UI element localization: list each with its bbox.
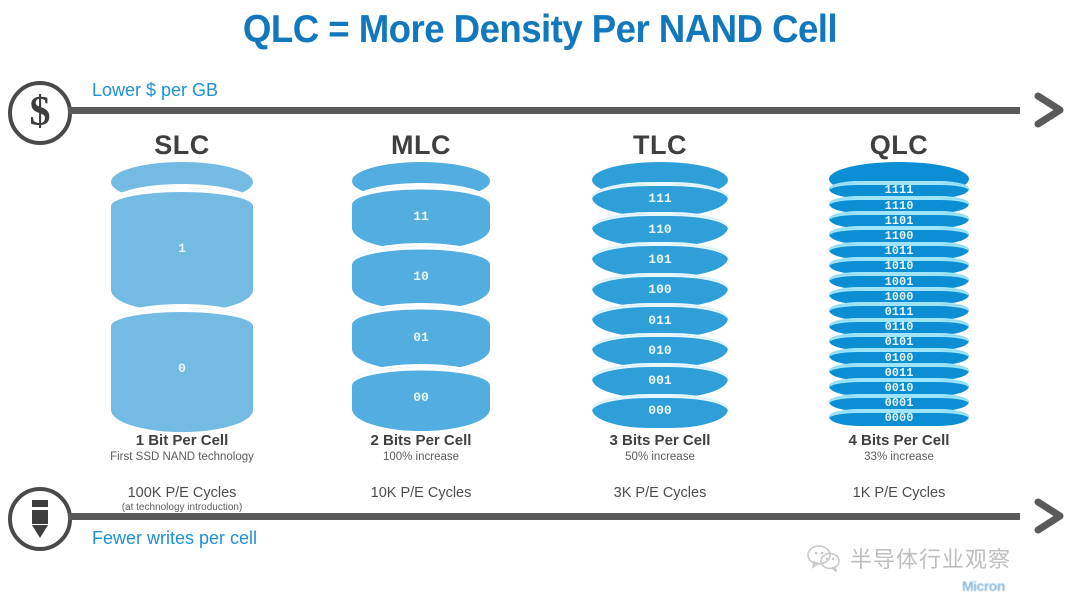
cell-level-value: 1000 bbox=[885, 291, 914, 303]
cell-level-value: 1011 bbox=[885, 245, 914, 257]
pe-cycles-qlc: 1K P/E Cycles bbox=[779, 485, 1019, 502]
cell-level-value: 1001 bbox=[885, 276, 914, 288]
slide-canvas: QLC = More Density Per NAND Cell $ Lower… bbox=[0, 0, 1080, 609]
cost-axis-line bbox=[68, 107, 1020, 114]
cell-level: 011 bbox=[592, 303, 728, 337]
cell-level-value: 00 bbox=[413, 391, 429, 404]
column-note: 50% increase bbox=[540, 451, 780, 463]
cell-level-value: 001 bbox=[648, 374, 671, 387]
dollar-glyph: $ bbox=[30, 91, 51, 133]
cell-level-value: 01 bbox=[413, 331, 429, 344]
cell-level-value: 0110 bbox=[885, 321, 914, 333]
cell-level-value: 111 bbox=[648, 192, 671, 205]
cell-level: 000 bbox=[592, 394, 728, 428]
cell-column-tlc: TLC 111110101100011010001000 3 Bits Per … bbox=[540, 130, 780, 463]
cell-level: 10 bbox=[352, 243, 490, 310]
cell-stack: 111110101100011010001000 bbox=[540, 162, 780, 424]
cell-level: 110 bbox=[592, 212, 728, 246]
pe-cycles-mlc: 10K P/E Cycles bbox=[301, 485, 541, 502]
arrow-right-icon bbox=[1030, 496, 1070, 536]
cell-level-value: 0010 bbox=[885, 382, 914, 394]
cell-column-slc: SLC 10 1 Bit Per Cell First SSD NAND tec… bbox=[62, 130, 302, 463]
cell-level-value: 0111 bbox=[885, 306, 914, 318]
cell-stack: 10 bbox=[62, 162, 302, 424]
cell-level-value: 000 bbox=[648, 404, 671, 417]
cell-level-value: 1100 bbox=[885, 230, 914, 242]
watermark: 半导体行业观察 bbox=[806, 542, 1011, 574]
cell-level-value: 0001 bbox=[885, 397, 914, 409]
bits-per-cell-label: 3 Bits Per Cell bbox=[540, 432, 780, 449]
cell-level-value: 1 bbox=[178, 242, 186, 255]
cell-stack: 1111111011011100101110101001100001110110… bbox=[779, 162, 1019, 424]
cell-level: 010 bbox=[592, 333, 728, 367]
cell-level-value: 10 bbox=[413, 270, 429, 283]
cell-level: 11 bbox=[352, 183, 490, 250]
pe-cycles-tlc: 3K P/E Cycles bbox=[540, 485, 780, 502]
cell-stack: 11100100 bbox=[301, 162, 541, 424]
pe-cycles-slc: 100K P/E Cycles (at technology introduct… bbox=[62, 485, 302, 513]
cell-level-value: 1010 bbox=[885, 260, 914, 272]
cell-level-value: 0 bbox=[178, 362, 186, 375]
pe-cycles-value: 10K P/E Cycles bbox=[301, 485, 541, 501]
cell-level: 00 bbox=[352, 364, 490, 431]
cell-column-qlc: QLC 111111101101110010111010100110000111… bbox=[779, 130, 1019, 463]
pe-cycles-value: 100K P/E Cycles bbox=[62, 485, 302, 501]
cost-axis-caption: Lower $ per GB bbox=[92, 80, 218, 101]
column-title: MLC bbox=[301, 130, 541, 162]
cell-column-mlc: MLC 11100100 2 Bits Per Cell 100% increa… bbox=[301, 130, 541, 463]
cell-level-value: 1110 bbox=[885, 200, 914, 212]
bits-per-cell-label: 1 Bit Per Cell bbox=[62, 432, 302, 449]
cell-level-value: 0101 bbox=[885, 336, 914, 348]
cell-level-value: 110 bbox=[648, 223, 671, 236]
cell-level: 001 bbox=[592, 363, 728, 397]
watermark-text: 半导体行业观察 bbox=[850, 542, 1011, 574]
cell-level: 0000 bbox=[829, 409, 969, 426]
column-title: SLC bbox=[62, 130, 302, 162]
cell-level-value: 0100 bbox=[885, 352, 914, 364]
endurance-axis-caption: Fewer writes per cell bbox=[92, 528, 257, 549]
pencil-glyph bbox=[23, 498, 57, 540]
bits-per-cell-label: 4 Bits Per Cell bbox=[779, 432, 1019, 449]
cell-level-value: 011 bbox=[648, 314, 671, 327]
bits-per-cell-label: 2 Bits Per Cell bbox=[301, 432, 541, 449]
cell-level: 111 bbox=[592, 182, 728, 216]
cell-level-value: 11 bbox=[413, 210, 429, 223]
cell-level: 0 bbox=[111, 304, 253, 432]
pe-cycles-value: 3K P/E Cycles bbox=[540, 485, 780, 501]
column-note: 33% increase bbox=[779, 451, 1019, 463]
cell-level-value: 1111 bbox=[885, 184, 914, 196]
column-note: First SSD NAND technology bbox=[62, 451, 302, 463]
endurance-axis-line bbox=[68, 513, 1020, 520]
column-note: 100% increase bbox=[301, 451, 541, 463]
column-title: QLC bbox=[779, 130, 1019, 162]
cell-level-value: 0000 bbox=[885, 412, 914, 424]
wechat-icon bbox=[806, 544, 842, 572]
column-title: TLC bbox=[540, 130, 780, 162]
pe-cycles-note: (at technology introduction) bbox=[62, 502, 302, 513]
cell-level-value: 010 bbox=[648, 344, 671, 357]
cell-level-value: 100 bbox=[648, 283, 671, 296]
cell-level: 1 bbox=[111, 184, 253, 312]
micron-logo: Micron bbox=[962, 578, 1005, 594]
pe-cycles-value: 1K P/E Cycles bbox=[779, 485, 1019, 501]
cell-level: 01 bbox=[352, 303, 490, 370]
page-title: QLC = More Density Per NAND Cell bbox=[32, 8, 1047, 52]
cell-level-value: 1101 bbox=[885, 215, 914, 227]
cell-level-value: 0011 bbox=[885, 367, 914, 379]
cell-level-value: 101 bbox=[648, 253, 671, 266]
arrow-right-icon bbox=[1030, 90, 1070, 130]
cell-level: 101 bbox=[592, 242, 728, 276]
cell-level: 100 bbox=[592, 273, 728, 307]
